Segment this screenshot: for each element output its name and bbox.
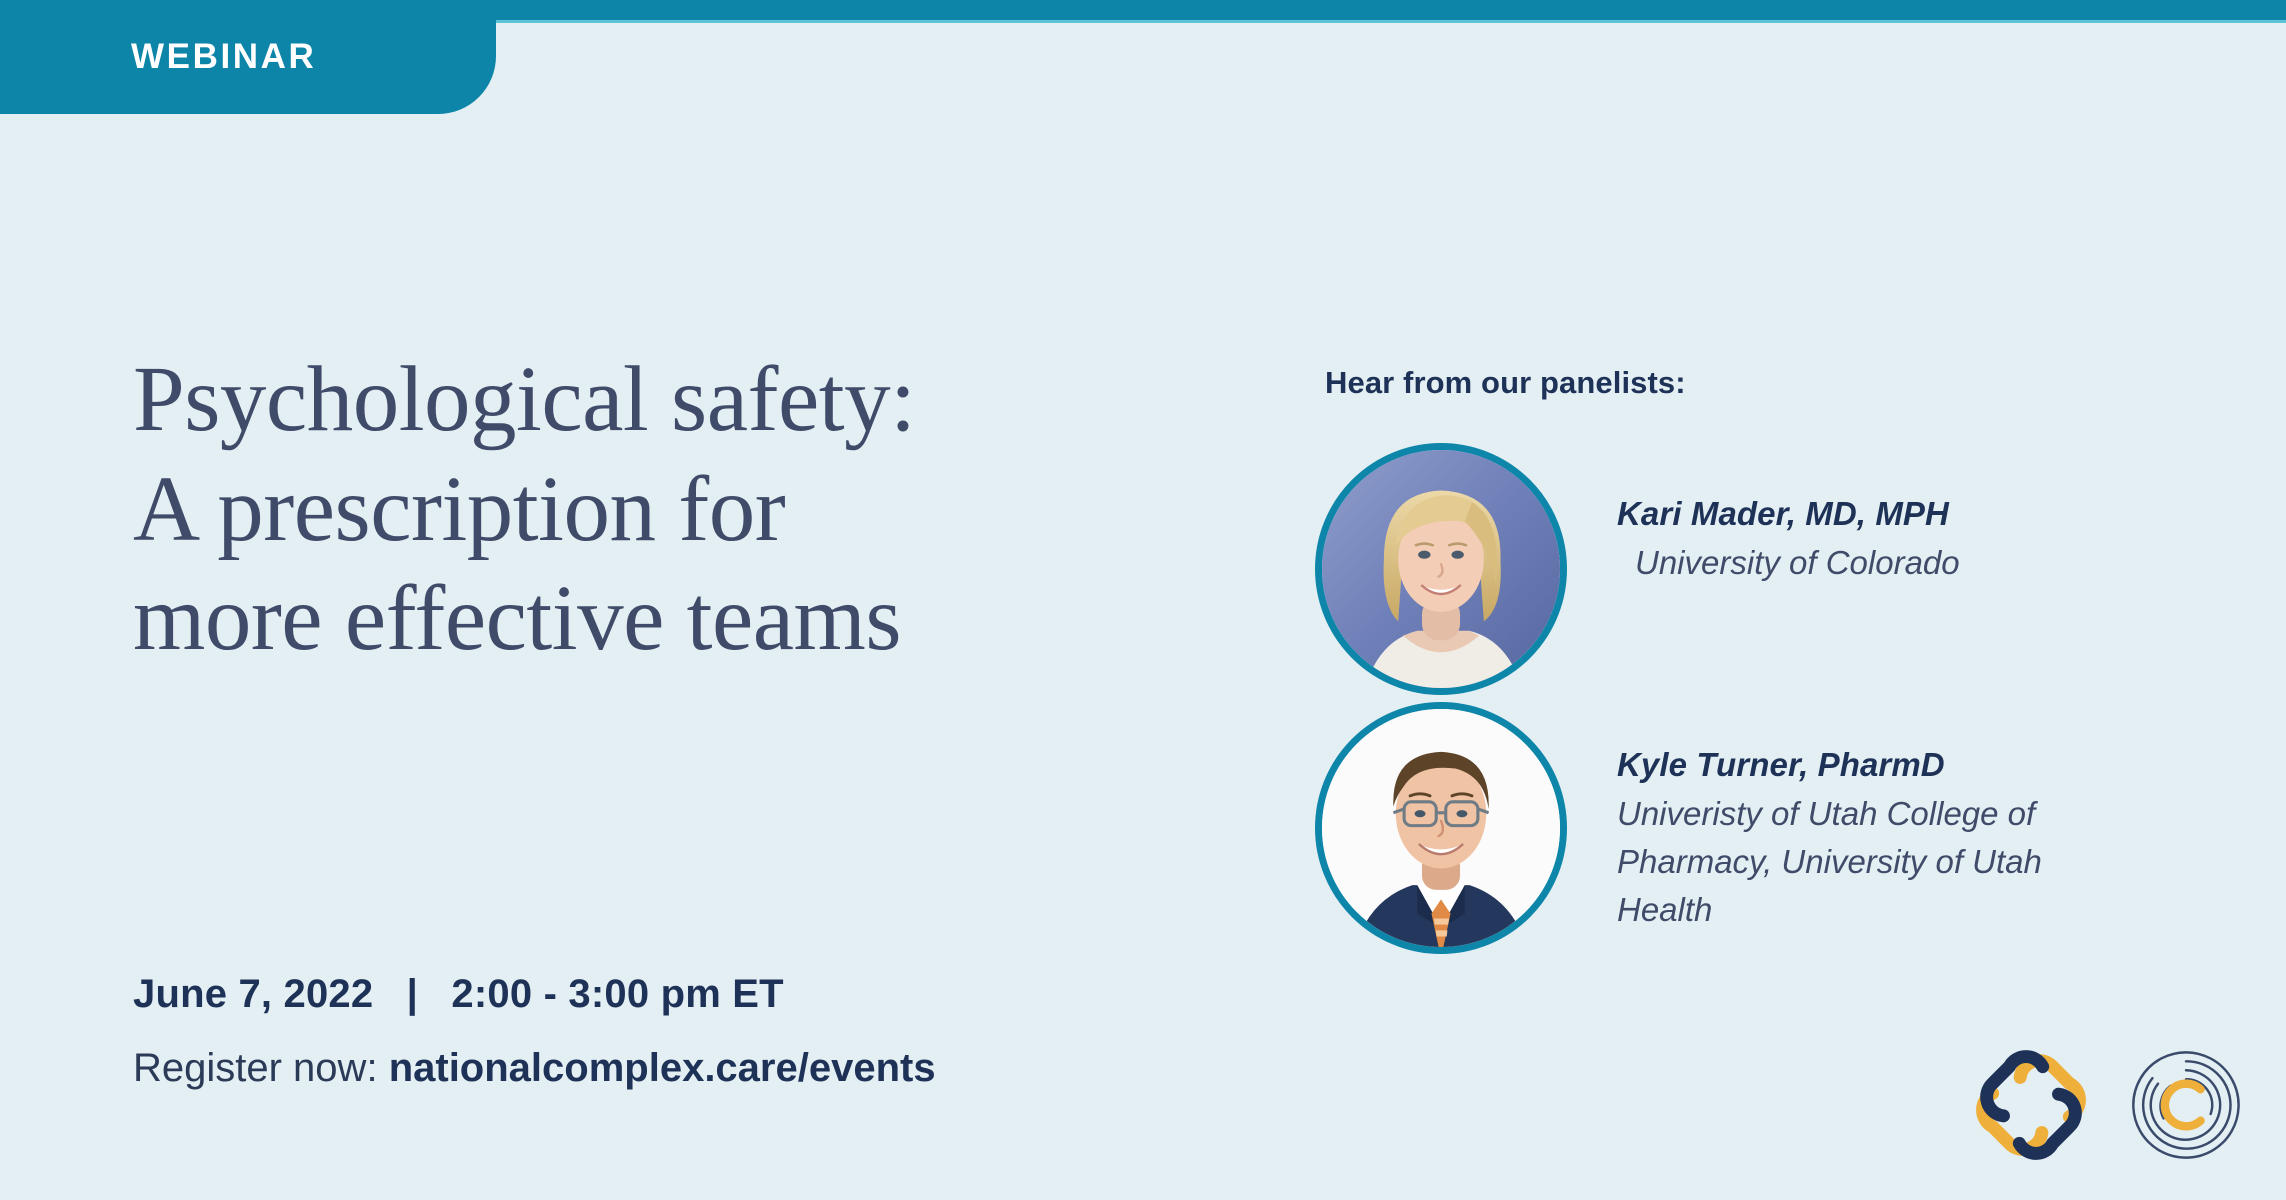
concentric-circles-logo bbox=[2130, 1049, 2242, 1161]
panelist-affiliation: University of Colorado bbox=[1617, 539, 1960, 587]
webinar-badge-label: WEBINAR bbox=[131, 37, 316, 77]
page-title-line-3: more effective teams bbox=[133, 564, 1143, 674]
event-datetime: June 7, 2022 | 2:00 - 3:00 pm ET bbox=[133, 972, 784, 1017]
interlocking-loops-logo bbox=[1972, 1046, 2090, 1164]
register-prefix: Register now: bbox=[133, 1046, 378, 1090]
panelist-name: Kyle Turner, PharmD bbox=[1617, 746, 2117, 784]
headshot-kari-mader-image bbox=[1322, 450, 1560, 688]
panelist-affiliation: Univeristy of Utah College of Pharmacy, … bbox=[1617, 790, 2117, 934]
panelist-text: Kyle Turner, PharmD Univeristy of Utah C… bbox=[1617, 702, 2117, 934]
panelist-card: Kyle Turner, PharmD Univeristy of Utah C… bbox=[1315, 702, 2117, 954]
register-url[interactable]: nationalcomplex.care/events bbox=[389, 1046, 936, 1090]
event-datetime-separator: | bbox=[385, 972, 440, 1016]
webinar-badge: WEBINAR bbox=[0, 0, 496, 114]
headshot-kyle-turner-image bbox=[1322, 709, 1560, 947]
page-title-line-1: Psychological safety: bbox=[133, 345, 1143, 455]
register-line: Register now: nationalcomplex.care/event… bbox=[133, 1046, 936, 1091]
panelists-heading: Hear from our panelists: bbox=[1325, 365, 1686, 401]
panelist-card: Kari Mader, MD, MPH University of Colora… bbox=[1315, 443, 1960, 695]
page-title-line-2: A prescription for bbox=[133, 455, 1143, 565]
logo-group bbox=[1972, 1046, 2242, 1164]
event-date: June 7, 2022 bbox=[133, 972, 373, 1016]
avatar bbox=[1315, 702, 1567, 954]
page-title: Psychological safety: A prescription for… bbox=[133, 345, 1143, 674]
panelist-text: Kari Mader, MD, MPH University of Colora… bbox=[1617, 443, 1960, 587]
avatar bbox=[1315, 443, 1567, 695]
panelist-name: Kari Mader, MD, MPH bbox=[1617, 495, 1960, 533]
event-time: 2:00 - 3:00 pm ET bbox=[451, 972, 783, 1016]
